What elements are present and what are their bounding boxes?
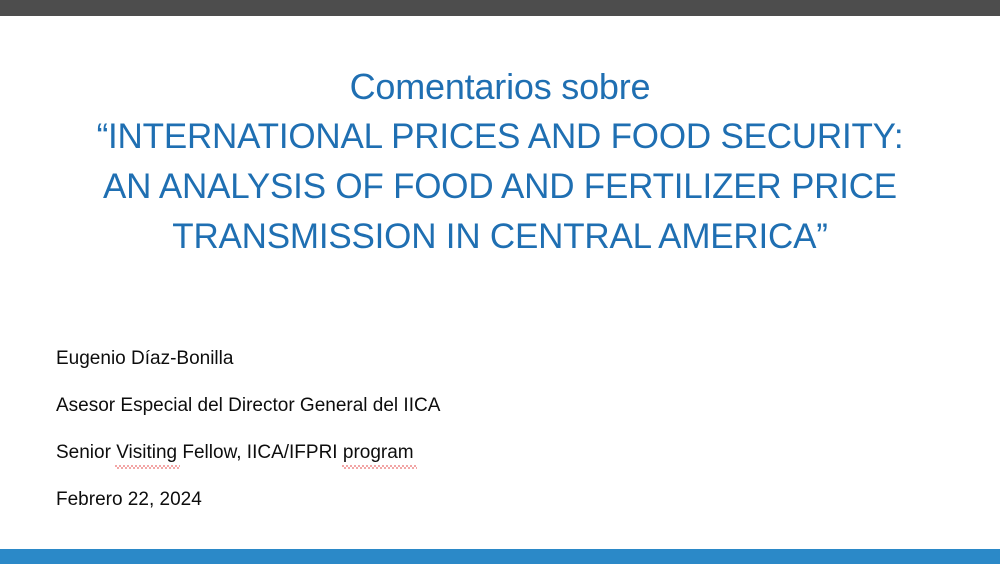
title-line-2: AN ANALYSIS OF FOOD AND FERTILIZER PRICE	[40, 162, 960, 212]
spellcheck-underline-program: program	[343, 440, 414, 467]
author-affiliation: Senior Visiting Fellow, IICA/IFPRI progr…	[56, 440, 856, 487]
author-role: Asesor Especial del Director General del…	[56, 393, 856, 440]
title-line-1: “INTERNATIONAL PRICES AND FOOD SECURITY:	[40, 112, 960, 162]
presentation-slide: Comentarios sobre “INTERNATIONAL PRICES …	[0, 0, 1000, 564]
bottom-accent-band	[0, 549, 1000, 564]
slide-title: Comentarios sobre “INTERNATIONAL PRICES …	[40, 62, 960, 262]
presentation-date: Febrero 22, 2024	[56, 487, 856, 534]
author-name: Eugenio Díaz-Bonilla	[56, 346, 856, 393]
title-line-lead: Comentarios sobre	[40, 62, 960, 112]
top-accent-band	[0, 0, 1000, 16]
title-line-3: TRANSMISSION IN CENTRAL AMERICA”	[40, 212, 960, 262]
spellcheck-underline-visiting: Visiting	[116, 440, 177, 467]
affiliation-text-part-1: Senior	[56, 442, 116, 463]
affiliation-text-part-2: Fellow, IICA/IFPRI	[177, 442, 343, 463]
author-details: Eugenio Díaz-Bonilla Asesor Especial del…	[56, 346, 856, 534]
